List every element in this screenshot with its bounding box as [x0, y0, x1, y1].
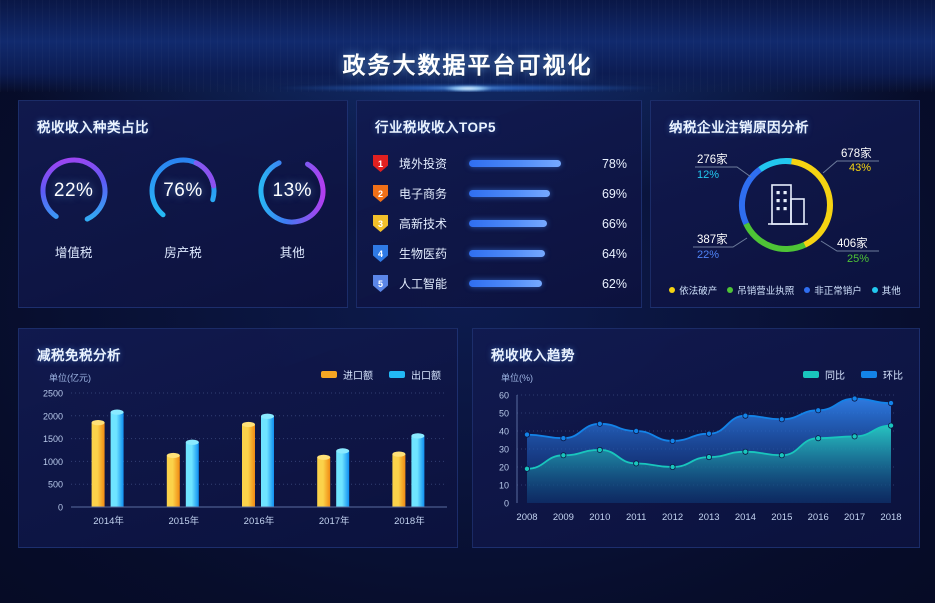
legend-label: 同比	[825, 367, 845, 382]
legend-item[interactable]: 同比	[803, 367, 845, 382]
data-point	[816, 408, 821, 413]
donut-count-3: 276家	[697, 152, 728, 166]
corner-bracket-tr	[907, 328, 920, 341]
x-axis-tick: 2013	[698, 512, 719, 523]
dashboard-root: 政务大数据平台可视化 税收收入种类占比	[0, 0, 935, 603]
y-axis-tick: 60	[499, 391, 509, 401]
donut-pct-1: 25%	[847, 253, 869, 265]
legend-item[interactable]: 进口额	[321, 367, 373, 382]
rank-industry-label: 电子商务	[399, 185, 465, 202]
y-axis-tick: 2000	[43, 411, 63, 421]
corner-bracket-tr	[907, 100, 920, 113]
x-axis-tick: 2012	[662, 512, 683, 523]
panel-cancellation-reason: 纳税企业注销原因分析	[650, 100, 920, 308]
rank-bar-fill	[469, 280, 542, 287]
data-point	[670, 438, 675, 443]
legend-item[interactable]: 环比	[861, 367, 903, 382]
data-point	[888, 423, 893, 428]
legend-swatch-icon	[321, 371, 337, 378]
gauge-vat[interactable]: 22% 增值税	[26, 153, 122, 261]
bar	[336, 451, 349, 507]
gauge-value-property-tax: 76%	[145, 153, 221, 229]
bar-cap	[242, 422, 255, 427]
legend-label: 依法破产	[679, 283, 717, 297]
y-axis-tick: 1000	[43, 457, 63, 467]
data-point	[524, 466, 529, 471]
panel-title-reduction: 减税免税分析	[37, 344, 121, 364]
panel-tax-share: 税收收入种类占比 22%	[18, 100, 348, 308]
data-point	[561, 453, 566, 458]
data-point	[779, 417, 784, 422]
rank-badge-icon: 2	[373, 185, 388, 202]
rank-percent-value: 78%	[597, 157, 627, 171]
bar-cap	[317, 455, 330, 460]
bar	[92, 423, 105, 507]
bar-cap	[186, 440, 199, 445]
rank-percent-value: 66%	[597, 217, 627, 231]
gauge-label-property-tax: 房产税	[135, 242, 231, 261]
x-axis-tick: 2009	[553, 512, 574, 523]
panel-title-tax-share: 税收收入种类占比	[37, 116, 149, 136]
x-axis-tick: 2011	[626, 512, 646, 523]
donut-legend: 依法破产吊销营业执照非正常销户其他	[651, 283, 919, 297]
y-axis-tick: 0	[58, 503, 63, 513]
rank-bar-track	[469, 220, 587, 227]
corner-bracket-tl	[472, 328, 485, 341]
legend-swatch-icon	[861, 371, 877, 378]
bar-chart: 050010001500200025002014年2015年2016年2017年…	[19, 385, 459, 545]
corner-bracket-bl	[18, 295, 31, 308]
rank-bar-fill	[469, 160, 561, 167]
x-axis-tick: 2016年	[244, 515, 275, 527]
x-axis-tick: 2017年	[319, 515, 350, 527]
y-axis-tick: 40	[499, 427, 509, 437]
bar	[111, 412, 124, 507]
legend-dot-icon	[804, 287, 810, 293]
rank-row[interactable]: 2电子商务69%	[373, 179, 627, 208]
x-axis-tick: 2015	[771, 512, 792, 523]
bar-chart-legend: 进口额出口额	[321, 367, 441, 382]
legend-dot-icon	[727, 287, 733, 293]
bar-cap	[392, 452, 405, 457]
panel-industry-top5: 行业税收收入TOP5 1境外投资78%2电子商务69%3高新技术66%4生物医药…	[356, 100, 642, 308]
donut-pct-2: 22%	[697, 249, 719, 261]
unit-label-trend: 单位(%)	[501, 371, 533, 384]
data-point	[706, 455, 711, 460]
legend-item[interactable]: 出口额	[389, 367, 441, 382]
y-axis-tick: 1500	[43, 434, 63, 444]
gauge-ring-property-tax: 76%	[145, 153, 221, 229]
corner-bracket-br	[629, 295, 642, 308]
donut-chart: 678家 43% 276家 12% 387家 22% 406家 25%	[651, 135, 919, 267]
rank-industry-label: 境外投资	[399, 155, 465, 172]
building-icon	[768, 185, 808, 224]
gauge-ring-vat: 22%	[36, 153, 112, 229]
data-point	[524, 432, 529, 437]
unit-label-reduction: 单位(亿元)	[49, 371, 91, 384]
y-axis-tick: 10	[499, 481, 509, 491]
bar	[317, 457, 330, 507]
gauge-ring-other: 13%	[254, 153, 330, 229]
corner-bracket-tr	[629, 100, 642, 113]
corner-bracket-br	[335, 295, 348, 308]
x-axis-tick: 2016	[808, 512, 829, 523]
legend-label: 进口额	[343, 367, 373, 382]
rank-percent-value: 62%	[597, 277, 627, 291]
corner-bracket-bl	[356, 295, 369, 308]
x-axis-tick: 2014年	[93, 515, 124, 527]
corner-bracket-tr	[335, 100, 348, 113]
rank-row[interactable]: 4生物医药64%	[373, 239, 627, 268]
corner-bracket-tl	[18, 100, 31, 113]
data-point	[816, 436, 821, 441]
data-point	[597, 447, 602, 452]
data-point	[888, 401, 893, 406]
rank-bar-fill	[469, 250, 545, 257]
x-axis-tick: 2017	[844, 512, 865, 523]
rank-row[interactable]: 3高新技术66%	[373, 209, 627, 238]
data-point	[561, 436, 566, 441]
data-point	[743, 413, 748, 418]
panel-tax-reduction: 减税免税分析 单位(亿元) 进口额出口额 0500100015002000250…	[18, 328, 458, 548]
corner-bracket-tr	[445, 328, 458, 341]
bar-cap	[261, 414, 274, 419]
bar	[411, 436, 424, 507]
legend-dot-icon	[669, 287, 675, 293]
legend-label: 非正常销户	[814, 283, 862, 297]
gauge-label-vat: 增值税	[26, 242, 122, 261]
trend-chart: 0102030405060200820092010201120122013201…	[473, 385, 921, 545]
rank-row[interactable]: 5人工智能62%	[373, 269, 627, 298]
bar-cap	[167, 453, 180, 458]
legend-item[interactable]: 吊销营业执照	[727, 283, 794, 297]
rank-bar-track	[469, 250, 587, 257]
rank-row[interactable]: 1境外投资78%	[373, 149, 627, 178]
panel-title-top5: 行业税收收入TOP5	[375, 116, 496, 136]
corner-bracket-tl	[356, 100, 369, 113]
x-axis-tick: 2014	[735, 512, 756, 523]
rank-bar-fill	[469, 190, 550, 197]
legend-dot-icon	[872, 287, 878, 293]
rank-badge-icon: 4	[373, 245, 388, 262]
bar	[392, 454, 405, 507]
gauge-property-tax[interactable]: 76% 房产税	[135, 153, 231, 261]
bar-cap	[111, 410, 124, 415]
rank-industry-label: 人工智能	[399, 275, 465, 292]
gauge-label-other: 其他	[244, 242, 340, 261]
rank-bar-track	[469, 190, 587, 197]
y-axis-tick: 20	[499, 463, 509, 473]
legend-label: 其他	[882, 283, 901, 297]
data-point	[634, 428, 639, 433]
bar-cap	[92, 420, 105, 425]
rank-industry-label: 高新技术	[399, 215, 465, 232]
donut-pct-0: 43%	[849, 162, 871, 174]
rank-badge-icon: 3	[373, 215, 388, 232]
data-point	[852, 434, 857, 439]
corner-bracket-tl	[18, 328, 31, 341]
donut-count-1: 406家	[837, 236, 868, 250]
data-point	[743, 449, 748, 454]
gauge-other[interactable]: 13% 其他	[244, 153, 340, 261]
panel-title-cancellation: 纳税企业注销原因分析	[669, 116, 809, 136]
data-point	[779, 453, 784, 458]
data-point	[634, 461, 639, 466]
panel-tax-trend: 税收收入趋势 单位(%) 同比环比 0102030405060200820092…	[472, 328, 920, 548]
legend-item[interactable]: 其他	[872, 283, 901, 297]
donut-pct-3: 12%	[697, 169, 719, 181]
rank-badge-icon: 5	[373, 275, 388, 292]
y-axis-tick: 500	[48, 480, 63, 490]
panel-title-trend: 税收收入趋势	[491, 344, 575, 364]
rank-bar-fill	[469, 220, 547, 227]
y-axis-tick: 50	[499, 409, 509, 419]
rank-bar-track	[469, 280, 587, 287]
gauge-value-other: 13%	[254, 153, 330, 229]
x-axis-tick: 2018年	[394, 515, 425, 527]
legend-label: 出口额	[411, 367, 441, 382]
gauge-group: 22% 增值税	[19, 153, 347, 261]
bar	[186, 442, 199, 507]
x-axis-tick: 2018	[880, 512, 901, 523]
donut-count-0: 678家	[841, 146, 872, 160]
page-title: 政务大数据平台可视化	[0, 46, 935, 80]
legend-item[interactable]: 非正常销户	[804, 283, 862, 297]
data-point	[597, 421, 602, 426]
bar	[242, 424, 255, 507]
rank-percent-value: 69%	[597, 187, 627, 201]
y-axis-tick: 30	[499, 445, 509, 455]
legend-swatch-icon	[803, 371, 819, 378]
x-axis-tick: 2015年	[168, 515, 199, 527]
legend-label: 吊销营业执照	[737, 283, 794, 297]
data-point	[670, 464, 675, 469]
y-axis-tick: 0	[504, 499, 509, 509]
corner-bracket-tl	[650, 100, 663, 113]
data-point	[852, 396, 857, 401]
rank-percent-value: 64%	[597, 247, 627, 261]
legend-label: 环比	[883, 367, 903, 382]
rank-badge-icon: 1	[373, 155, 388, 172]
bar-cap	[336, 448, 349, 453]
rank-bar-track	[469, 160, 587, 167]
legend-swatch-icon	[389, 371, 405, 378]
rank-industry-label: 生物医药	[399, 245, 465, 262]
bar-cap	[411, 433, 424, 438]
data-point	[706, 431, 711, 436]
donut-count-2: 387家	[697, 232, 728, 246]
gauge-value-vat: 22%	[36, 153, 112, 229]
bar	[167, 455, 180, 507]
y-axis-tick: 2500	[43, 389, 63, 399]
rank-list: 1境外投资78%2电子商务69%3高新技术66%4生物医药64%5人工智能62%	[373, 149, 627, 299]
x-axis-tick: 2008	[516, 512, 537, 523]
x-axis-tick: 2010	[589, 512, 610, 523]
header-glow-core	[445, 86, 491, 91]
bar	[261, 416, 274, 507]
trend-chart-legend: 同比环比	[803, 367, 903, 382]
legend-item[interactable]: 依法破产	[669, 283, 717, 297]
